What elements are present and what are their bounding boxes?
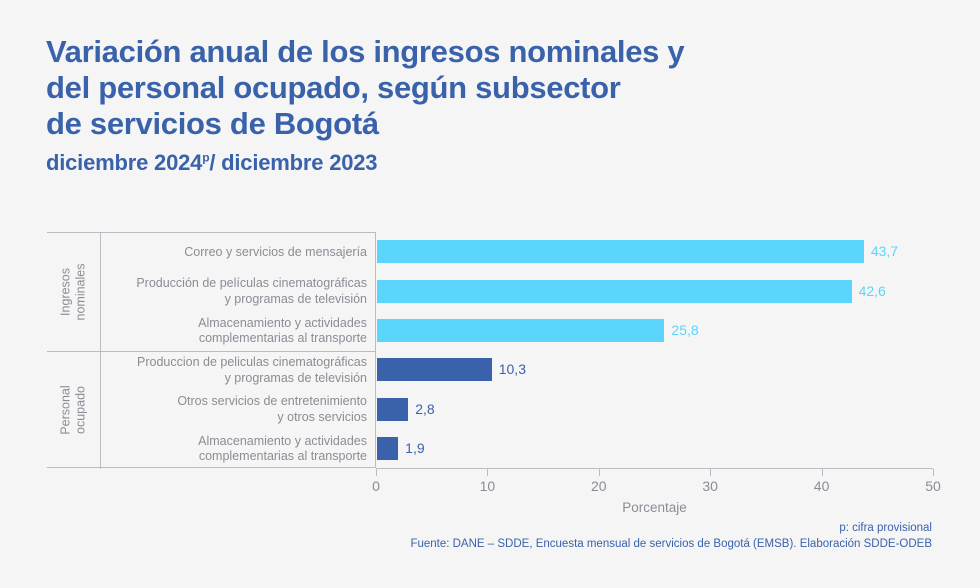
subtitle-suffix: / diciembre 2023 [209, 150, 377, 175]
x-axis-tick-label: 0 [372, 478, 380, 494]
bar-value-label: 42,6 [859, 280, 886, 303]
category-label: Almacenamiento y actividades complementa… [105, 312, 367, 351]
bar [377, 398, 408, 421]
bar-value-label: 43,7 [871, 240, 898, 263]
page-subtitle: diciembre 2024p/ diciembre 2023 [46, 150, 906, 176]
subtitle-prefix: diciembre 2024 [46, 150, 202, 175]
bar [377, 437, 398, 460]
category-label: Otros servicios de entretenimiento y otr… [105, 390, 367, 429]
x-axis-tick [710, 469, 711, 476]
x-axis-tick [487, 469, 488, 476]
bar-chart: Ingresos nominalesPersonal ocupado Corre… [47, 232, 933, 468]
bar-value-label: 10,3 [499, 358, 526, 381]
bar [377, 358, 492, 381]
x-axis-tick-label: 20 [591, 478, 607, 494]
category-label-panel: Ingresos nominalesPersonal ocupado Corre… [47, 232, 376, 468]
group-title-label: Personal ocupado [59, 385, 89, 434]
source-note: Fuente: DANE – SDDE, Encuesta mensual de… [410, 536, 932, 552]
chart-header: Variación anual de los ingresos nominale… [46, 34, 906, 176]
x-axis-tick [376, 469, 377, 476]
bar-value-label: 25,8 [671, 319, 698, 342]
x-axis-tick-label: 30 [702, 478, 718, 494]
plot-area: 43,742,625,810,32,81,9 [376, 232, 933, 468]
x-axis: Porcentaje 01020304050 [376, 468, 933, 470]
bar-value-label: 1,9 [405, 437, 424, 460]
x-axis-tick [933, 469, 934, 476]
x-axis-title: Porcentaje [622, 500, 687, 515]
provisional-note: p: cifra provisional [410, 520, 932, 536]
bar-value-label: 2,8 [415, 398, 434, 421]
group-title-personal-ocupado: Personal ocupado [47, 351, 100, 469]
bar [377, 240, 864, 263]
page-title: Variación anual de los ingresos nominale… [46, 34, 906, 142]
x-axis-tick [822, 469, 823, 476]
bar [377, 319, 664, 342]
bar [377, 280, 852, 303]
group-title-ingresos-nominales: Ingresos nominales [47, 233, 100, 351]
group-title-label: Ingresos nominales [59, 264, 89, 321]
category-label: Correo y servicios de mensajería [105, 233, 367, 272]
x-axis-tick-label: 10 [480, 478, 496, 494]
x-axis-tick-label: 40 [814, 478, 830, 494]
category-label: Produccion de peliculas cinematográficas… [105, 351, 367, 390]
category-label: Producción de películas cinematográficas… [105, 272, 367, 311]
chart-footer: p: cifra provisional Fuente: DANE – SDDE… [410, 520, 932, 552]
x-axis-tick-label: 50 [925, 478, 941, 494]
x-axis-tick [599, 469, 600, 476]
category-label: Almacenamiento y actividades complementa… [105, 430, 367, 469]
